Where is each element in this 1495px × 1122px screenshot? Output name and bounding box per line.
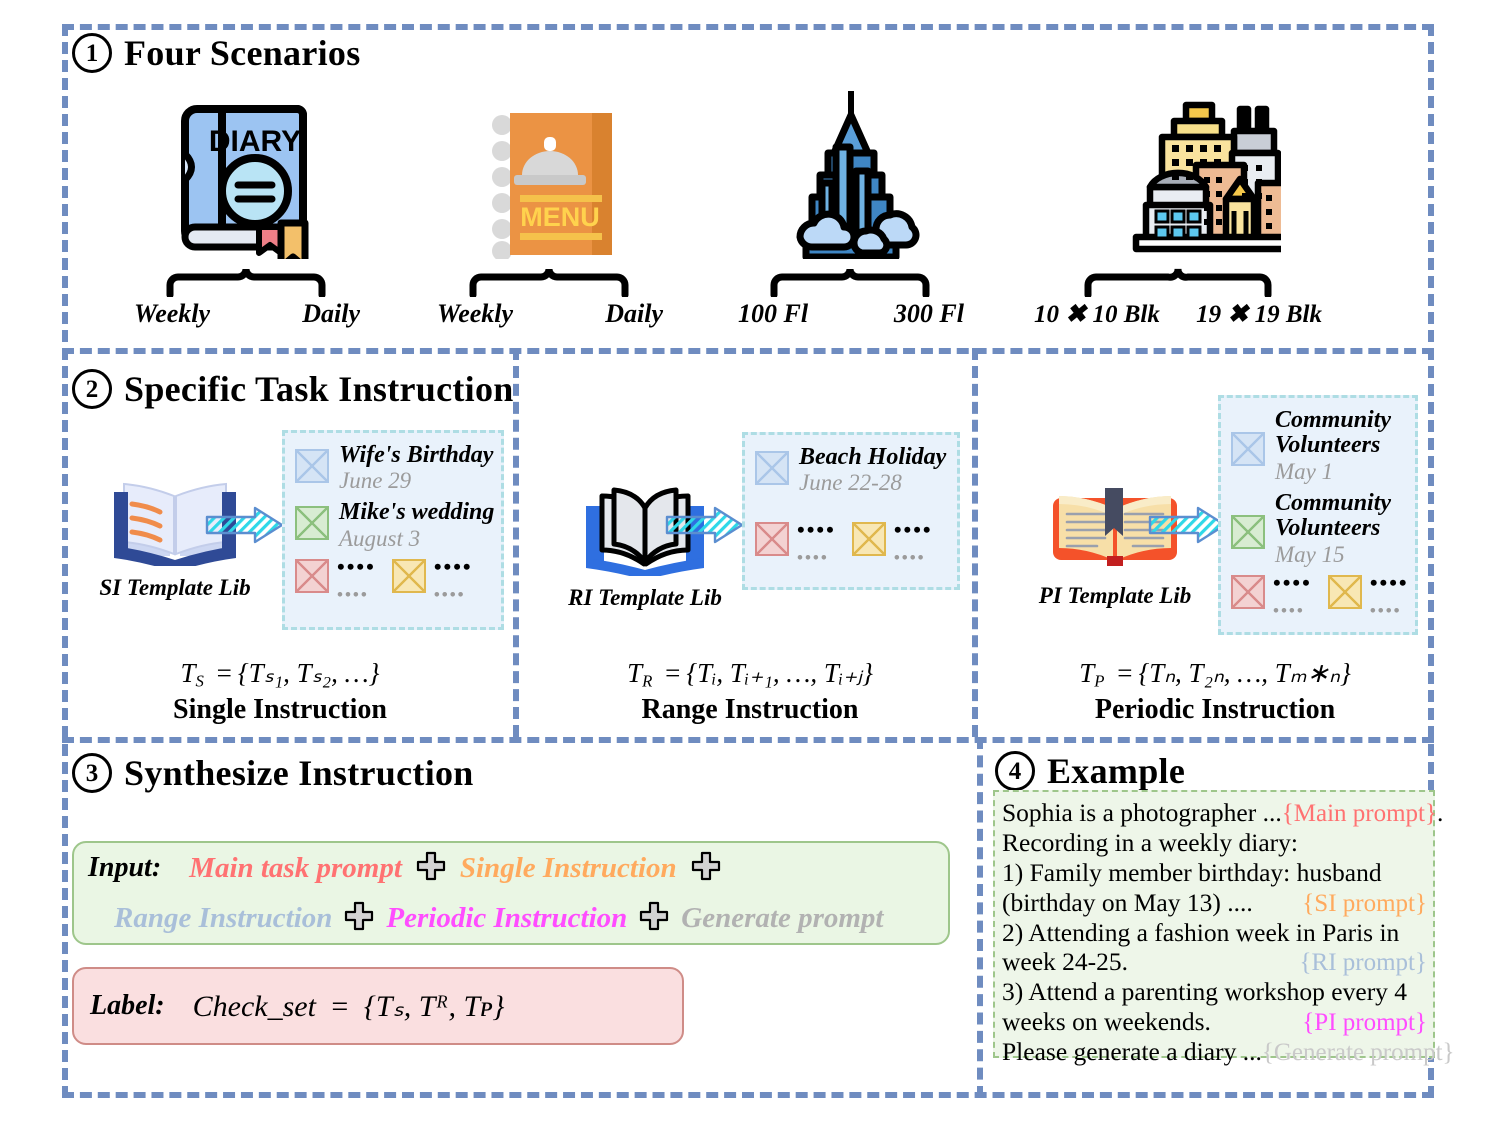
event-title: Community Volunteers <box>1275 408 1403 459</box>
si-formula-lhs: T <box>181 658 196 688</box>
example-line: 3) Attend a parenting workshop every 4 <box>1002 977 1427 1007</box>
event-title: Wife's Birthday <box>339 443 493 468</box>
example-line-text: weeks on weekends. <box>1002 1007 1211 1037</box>
svg-text:DIARY: DIARY <box>208 125 300 158</box>
placeholder-item: •••• •••• <box>295 557 376 602</box>
placeholder-item: •••• •••• <box>1328 573 1409 618</box>
scenario-skyscraper-left-label: 100 Fl <box>738 299 808 329</box>
ri-formula-name: Range Instruction <box>540 694 960 726</box>
pi-formula-expression: TP ={Tₙ, T₂ₙ, …, Tₘ∗ₙ} <box>1000 658 1430 692</box>
placeholder-color-square <box>1231 575 1265 609</box>
placeholder-subdots: •••• <box>894 550 933 565</box>
event-color-square <box>1231 432 1265 466</box>
example-line: Recording in a weekly diary: <box>1002 828 1427 858</box>
scenario-diary-right-label: Daily <box>302 299 360 329</box>
section-3-heading: 3 Synthesize Instruction <box>72 752 474 794</box>
example-line: week 24-25. {RI prompt} <box>1002 947 1427 977</box>
divider-section3-4 <box>977 737 983 1098</box>
event-date: August 3 <box>339 526 494 552</box>
si-formula-rhs: {Tₛ₁, Tₛ₂, …} <box>238 658 380 688</box>
section-3-number: 3 <box>72 753 112 793</box>
scenario-city: 10 ✖ 10 Blk 19 ✖ 19 Blk <box>1032 84 1324 329</box>
event-title: Community Volunteers <box>1275 491 1403 542</box>
scenario-menu: MENU Weekly Daily <box>425 84 675 329</box>
city-blocks-icon <box>1032 84 1324 259</box>
example-line: 1) Family member birthday: husband <box>1002 858 1427 888</box>
example-line-text: week 24-25. <box>1002 947 1128 977</box>
example-line: Please generate a diary ... {Generate pr… <box>1002 1037 1427 1067</box>
placeholder-subdots: •••• <box>1370 603 1409 618</box>
example-line-tag: {SI prompt} <box>1302 889 1427 918</box>
example-line-text: 3) Attend a parenting workshop every 4 <box>1002 977 1407 1006</box>
plus-icon <box>416 851 446 886</box>
example-line-text: 1) Family member birthday: husband <box>1002 858 1382 887</box>
section-1-number: 1 <box>72 33 112 73</box>
scenario-menu-left-label: Weekly <box>437 299 513 329</box>
ri-template-lib-label: RI Template Lib <box>545 585 745 611</box>
section-1-title: Four Scenarios <box>124 32 361 74</box>
si-template-lib-label: SI Template Lib <box>75 575 275 601</box>
event-title: Mike's wedding <box>339 500 494 525</box>
divider-ri-pi <box>972 348 978 737</box>
label-formula-name: Check_set <box>193 990 316 1023</box>
plus-icon <box>691 851 721 886</box>
example-line: 2) Attending a fashion week in Paris in <box>1002 918 1427 948</box>
example-line: Sophia is a photographer ... {Main promp… <box>1002 798 1427 828</box>
placeholder-dots: •••• <box>434 557 473 577</box>
svg-text:MENU: MENU <box>520 202 600 232</box>
skyscraper-icon <box>726 84 976 259</box>
placeholder-color-square <box>1328 575 1362 609</box>
diary-book-icon: DIARY <box>122 84 372 259</box>
event-date: May 15 <box>1275 542 1403 568</box>
example-line-tag: {Main prompt} <box>1282 800 1437 827</box>
menu-notebook-icon: MENU <box>425 84 675 259</box>
event-color-square <box>1231 515 1265 549</box>
event-color-square <box>755 451 789 485</box>
si-formula-name: Single Instruction <box>70 694 490 726</box>
divider-section2-3 <box>62 737 1434 743</box>
section-2-number: 2 <box>72 369 112 409</box>
event-title: Beach Holiday <box>799 445 946 470</box>
placeholder-item: •••• •••• <box>852 520 933 565</box>
example-line-tag: {Generate prompt} <box>1262 1038 1455 1067</box>
label-formula-set: {Tₛ, Tᴿ, Tᴘ} <box>364 990 505 1023</box>
placeholder-dots: •••• <box>337 557 376 577</box>
placeholder-subdots: •••• <box>434 587 473 602</box>
section-2-title: Specific Task Instruction <box>124 368 514 410</box>
example-line-text: Recording in a weekly diary: <box>1002 828 1298 857</box>
event-color-square <box>295 506 329 540</box>
plus-icon <box>344 901 374 936</box>
placeholder-subdots: •••• <box>1273 603 1312 618</box>
pi-formula-sub: P <box>1094 672 1104 691</box>
placeholder-color-square <box>755 522 789 556</box>
event-color-square <box>295 449 329 483</box>
section-2-heading: 2 Specific Task Instruction <box>72 368 514 410</box>
section-3-title: Synthesize Instruction <box>124 752 474 794</box>
example-line-suffix: . <box>1437 798 1443 827</box>
example-line-tag: {PI prompt} <box>1302 1008 1427 1037</box>
placeholder-item: •••• •••• <box>755 520 836 565</box>
example-line-text: 2) Attending a fashion week in Paris in <box>1002 918 1399 947</box>
placeholder-item: •••• •••• <box>1231 573 1312 618</box>
label-formula: Check_set = {Tₛ, Tᴿ, Tᴘ} <box>193 989 505 1024</box>
scenario-diary-left-label: Weekly <box>134 299 210 329</box>
pi-formula: TP ={Tₙ, T₂ₙ, …, Tₘ∗ₙ} Periodic Instruct… <box>1000 658 1430 726</box>
pi-event-box: Community Volunteers May 1 Community Vol… <box>1218 395 1418 635</box>
event-date: June 22-28 <box>799 470 946 496</box>
brace-icon <box>425 263 675 297</box>
event-date: May 1 <box>1275 459 1403 485</box>
pi-formula-lhs: T <box>1079 658 1094 688</box>
example-line-text: (birthday on May 13) .... <box>1002 888 1253 918</box>
ri-event-box: Beach Holiday June 22-28 •••• •••• •••• … <box>742 432 960 590</box>
chip-generate-prompt: Generate prompt <box>681 902 883 935</box>
chip-periodic-instruction: Periodic Instruction <box>386 902 627 935</box>
input-tag: Input: <box>88 852 161 884</box>
example-line: (birthday on May 13) .... {SI prompt} <box>1002 888 1427 918</box>
si-formula: TS ={Tₛ₁, Tₛ₂, …} Single Instruction <box>70 658 490 726</box>
scenario-skyscraper-right-label: 300 Fl <box>894 299 964 329</box>
ri-formula-rhs: {Tᵢ, Tᵢ₊₁, …, Tᵢ₊ⱼ} <box>686 658 873 688</box>
scenario-diary: DIARY Weekly Daily <box>122 84 372 329</box>
section-4-title: Example <box>1047 750 1185 792</box>
si-arrow-icon <box>205 505 285 550</box>
pi-formula-name: Periodic Instruction <box>1000 694 1430 726</box>
placeholder-item: •••• •••• <box>392 557 473 602</box>
brace-icon <box>122 263 372 297</box>
si-event-box: Wife's Birthday June 29 Mike's wedding A… <box>282 430 504 630</box>
chip-range-instruction: Range Instruction <box>114 902 332 935</box>
placeholder-subdots: •••• <box>797 550 836 565</box>
ri-formula-sub: R <box>642 672 652 691</box>
example-line-text: Please generate a diary ... <box>1002 1037 1262 1067</box>
event-item: Wife's Birthday June 29 <box>295 443 489 494</box>
figure-root: 1 Four Scenarios DIARY <box>0 0 1495 1122</box>
section-4-heading: 4 Example <box>995 750 1185 792</box>
ri-formula-lhs: T <box>627 658 642 688</box>
pi-template-lib-label: PI Template Lib <box>1010 583 1220 609</box>
placeholder-color-square <box>852 522 886 556</box>
event-item: Community Volunteers May 1 <box>1231 408 1403 485</box>
event-item: Mike's wedding August 3 <box>295 500 489 551</box>
label-tag: Label: <box>90 990 165 1022</box>
ri-arrow-icon <box>665 505 745 550</box>
section-1-heading: 1 Four Scenarios <box>72 32 361 74</box>
scenario-city-right-label: 19 ✖ 19 Blk <box>1196 299 1322 329</box>
event-date: June 29 <box>339 468 493 494</box>
example-line: weeks on weekends. {PI prompt} <box>1002 1007 1427 1037</box>
pi-arrow-icon <box>1148 505 1228 550</box>
placeholder-color-square <box>295 559 329 593</box>
chip-main-task-prompt: Main task prompt <box>189 852 402 885</box>
example-box: Sophia is a photographer ... {Main promp… <box>993 790 1435 1058</box>
label-box: Label: Check_set = {Tₛ, Tᴿ, Tᴘ} <box>72 967 684 1045</box>
ri-formula: TR ={Tᵢ, Tᵢ₊₁, …, Tᵢ₊ⱼ} Range Instructio… <box>540 658 960 726</box>
ri-formula-expression: TR ={Tᵢ, Tᵢ₊₁, …, Tᵢ₊ⱼ} <box>540 658 960 692</box>
placeholder-color-square <box>392 559 426 593</box>
placeholder-dots: •••• <box>894 520 933 540</box>
input-box: Input: Main task prompt Single Instructi… <box>72 841 950 945</box>
placeholder-dots: •••• <box>1370 573 1409 593</box>
chip-single-instruction: Single Instruction <box>460 852 677 885</box>
placeholder-subdots: •••• <box>337 587 376 602</box>
scenario-menu-right-label: Daily <box>605 299 663 329</box>
example-line-tag: {RI prompt} <box>1300 948 1427 977</box>
divider-section1-2 <box>62 348 1434 354</box>
event-item: Community Volunteers May 15 <box>1231 491 1403 568</box>
si-formula-expression: TS ={Tₛ₁, Tₛ₂, …} <box>70 658 490 692</box>
example-line-text: Sophia is a photographer ... <box>1002 798 1282 828</box>
placeholder-dots: •••• <box>797 520 836 540</box>
label-formula-eq: = <box>331 990 348 1023</box>
scenario-city-left-label: 10 ✖ 10 Blk <box>1034 299 1160 329</box>
placeholder-dots: •••• <box>1273 573 1312 593</box>
brace-icon <box>726 263 976 297</box>
pi-formula-rhs: {Tₙ, T₂ₙ, …, Tₘ∗ₙ} <box>1138 658 1350 688</box>
scenario-skyscraper: 100 Fl 300 Fl <box>726 84 976 329</box>
section-4-number: 4 <box>995 751 1035 791</box>
divider-si-ri <box>513 348 519 737</box>
plus-icon <box>639 901 669 936</box>
brace-icon <box>1032 263 1324 297</box>
event-item: Beach Holiday June 22-28 <box>755 445 945 496</box>
si-formula-sub: S <box>196 672 204 691</box>
